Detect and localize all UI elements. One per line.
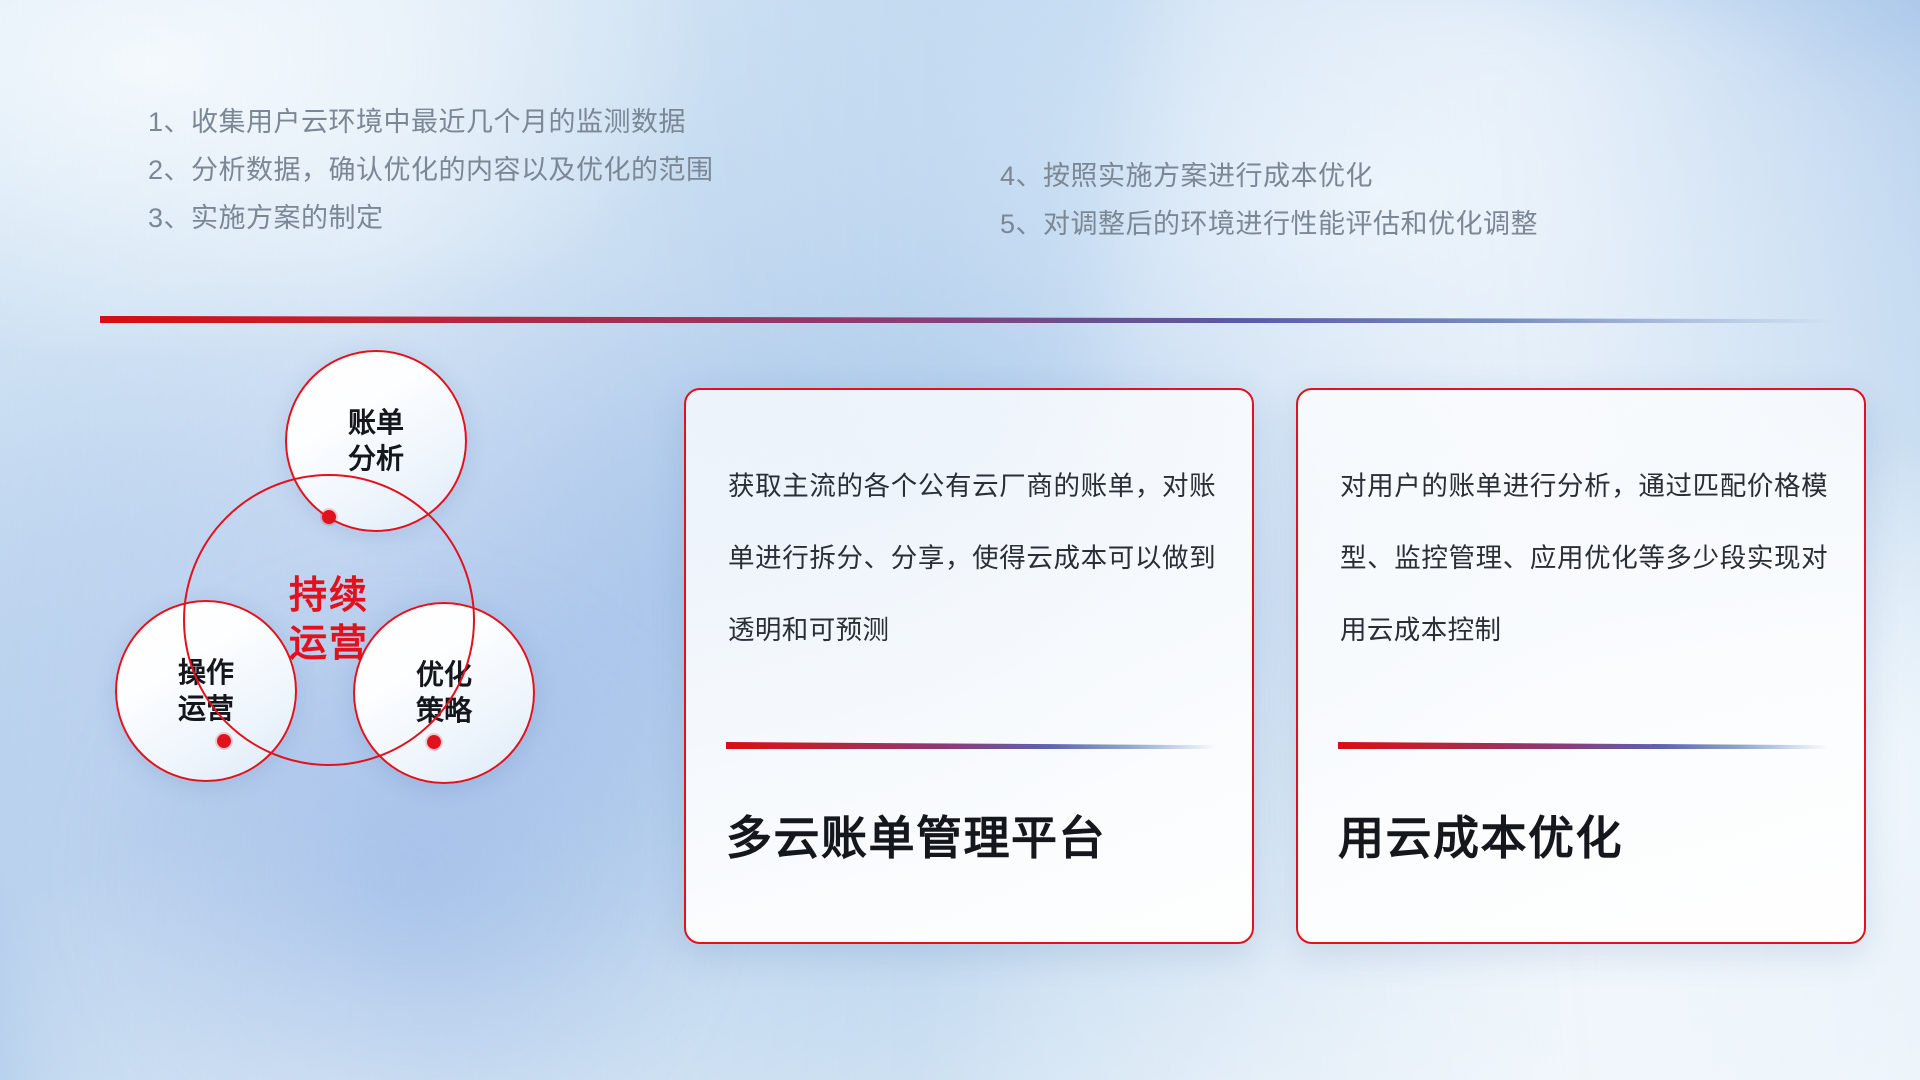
feature-card-body: 获取主流的各个公有云厂商的账单，对账单进行拆分、分享，使得云成本可以做到透明和可… <box>728 450 1216 666</box>
feature-card-title: 多云账单管理平台 <box>726 808 1222 868</box>
feature-card-title: 用云成本优化 <box>1338 808 1834 868</box>
continuous-operation-venn-diagram: 账单 分析 操作 运营 优化 策略 持续 运营 <box>95 350 635 950</box>
feature-card-cloud-cost-optimization[interactable]: 对用户的账单进行分析，通过匹配价格模型、监控管理、应用优化等多少段实现对用云成本… <box>1296 388 1866 944</box>
feature-card-divider <box>1338 742 1828 749</box>
venn-node-label-line: 账单 <box>348 405 404 441</box>
step-item: 4、按照实施方案进行成本优化 <box>1000 152 1538 200</box>
feature-card-multi-cloud-billing-platform[interactable]: 获取主流的各个公有云厂商的账单，对账单进行拆分、分享，使得云成本可以做到透明和可… <box>684 388 1254 944</box>
feature-card-body: 对用户的账单进行分析，通过匹配价格模型、监控管理、应用优化等多少段实现对用云成本… <box>1340 450 1828 666</box>
steps-list-left: 1、收集用户云环境中最近几个月的监测数据 2、分析数据，确认优化的内容以及优化的… <box>148 98 714 242</box>
steps-list-right: 4、按照实施方案进行成本优化 5、对调整后的环境进行性能评估和优化调整 <box>1000 152 1538 248</box>
step-item: 1、收集用户云环境中最近几个月的监测数据 <box>148 98 714 146</box>
venn-center-label-line: 持续 <box>289 572 369 620</box>
step-item: 5、对调整后的环境进行性能评估和优化调整 <box>1000 200 1538 248</box>
step-item: 3、实施方案的制定 <box>148 194 714 242</box>
venn-node-label-line: 分析 <box>348 441 404 477</box>
venn-center-label: 持续 运营 <box>183 474 475 766</box>
feature-card-divider <box>726 742 1216 749</box>
step-item: 2、分析数据，确认优化的内容以及优化的范围 <box>148 146 714 194</box>
venn-center-label-line: 运营 <box>289 620 369 668</box>
